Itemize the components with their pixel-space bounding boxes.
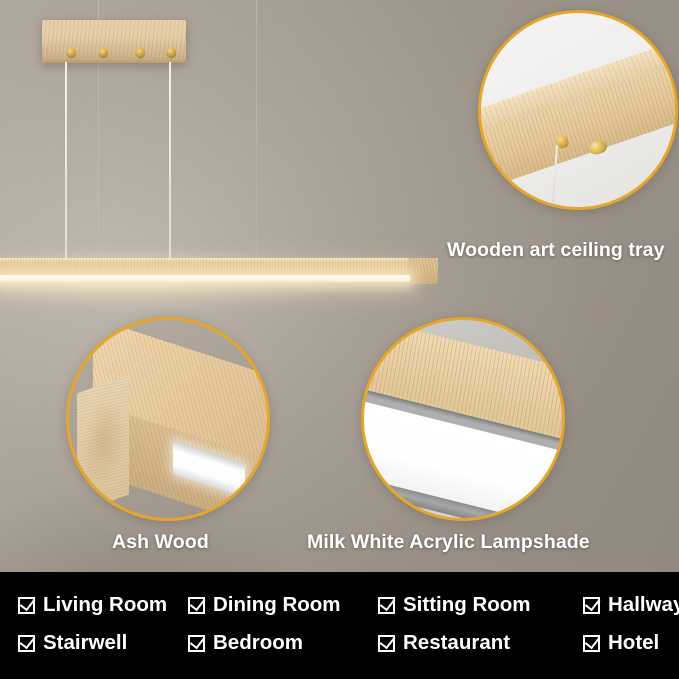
ceiling-plate-edge xyxy=(42,59,186,63)
usage-item-bedroom: Bedroom xyxy=(188,631,378,655)
usage-item-dining-room: Dining Room xyxy=(188,593,378,617)
suspension-cable xyxy=(65,62,67,262)
usage-item-label: Bedroom xyxy=(213,631,303,655)
wall-seam-right xyxy=(256,0,257,258)
usage-item-stairwell: Stairwell xyxy=(18,631,188,655)
suspension-cable xyxy=(169,62,171,262)
usage-item-hotel: Hotel xyxy=(583,631,679,655)
brass-screw xyxy=(99,48,108,57)
caption-ceiling-tray: Wooden art ceiling tray xyxy=(447,239,665,262)
checked-checkbox-icon xyxy=(18,597,35,614)
checked-checkbox-icon xyxy=(378,635,395,652)
usage-item-label: Living Room xyxy=(43,593,167,617)
linear-pendant-lamp xyxy=(0,258,438,286)
checked-checkbox-icon xyxy=(188,635,205,652)
usage-scenarios-bar: Living Room Dining Room Sitting Room Hal… xyxy=(0,572,679,679)
lamp-wood-highlight xyxy=(0,258,438,262)
usage-item-label: Stairwell xyxy=(43,631,127,655)
usage-item-label: Hallway xyxy=(608,593,679,617)
brass-screw xyxy=(136,48,145,57)
lamp-end-cap xyxy=(408,258,438,284)
checked-checkbox-icon xyxy=(378,597,395,614)
usage-item-label: Dining Room xyxy=(213,593,341,617)
usage-item-label: Restaurant xyxy=(403,631,510,655)
usage-scenarios-grid: Living Room Dining Room Sitting Room Hal… xyxy=(18,586,669,662)
brass-screw xyxy=(67,48,76,57)
usage-item-restaurant: Restaurant xyxy=(378,631,583,655)
caption-acrylic-lampshade: Milk White Acrylic Lampshade xyxy=(307,531,590,554)
lamp-led-strip xyxy=(0,275,410,282)
checked-checkbox-icon xyxy=(188,597,205,614)
usage-item-living-room: Living Room xyxy=(18,593,188,617)
callout-ceiling-tray xyxy=(478,10,678,210)
ceiling-mount-plate xyxy=(42,20,186,63)
product-detail-image: Wooden art ceiling tray Ash Wood Milk Wh… xyxy=(0,0,679,679)
checked-checkbox-icon xyxy=(18,635,35,652)
ash-wood-end-grain xyxy=(77,375,129,514)
usage-item-label: Hotel xyxy=(608,631,659,655)
brass-screw xyxy=(167,48,176,57)
usage-item-label: Sitting Room xyxy=(403,593,531,617)
callout-ash-wood xyxy=(66,317,270,521)
usage-item-sitting-room: Sitting Room xyxy=(378,593,583,617)
usage-item-hallway: Hallway xyxy=(583,593,679,617)
callout-acrylic-lampshade xyxy=(361,317,565,521)
checked-checkbox-icon xyxy=(583,597,600,614)
checked-checkbox-icon xyxy=(583,635,600,652)
caption-ash-wood: Ash Wood xyxy=(112,531,209,554)
